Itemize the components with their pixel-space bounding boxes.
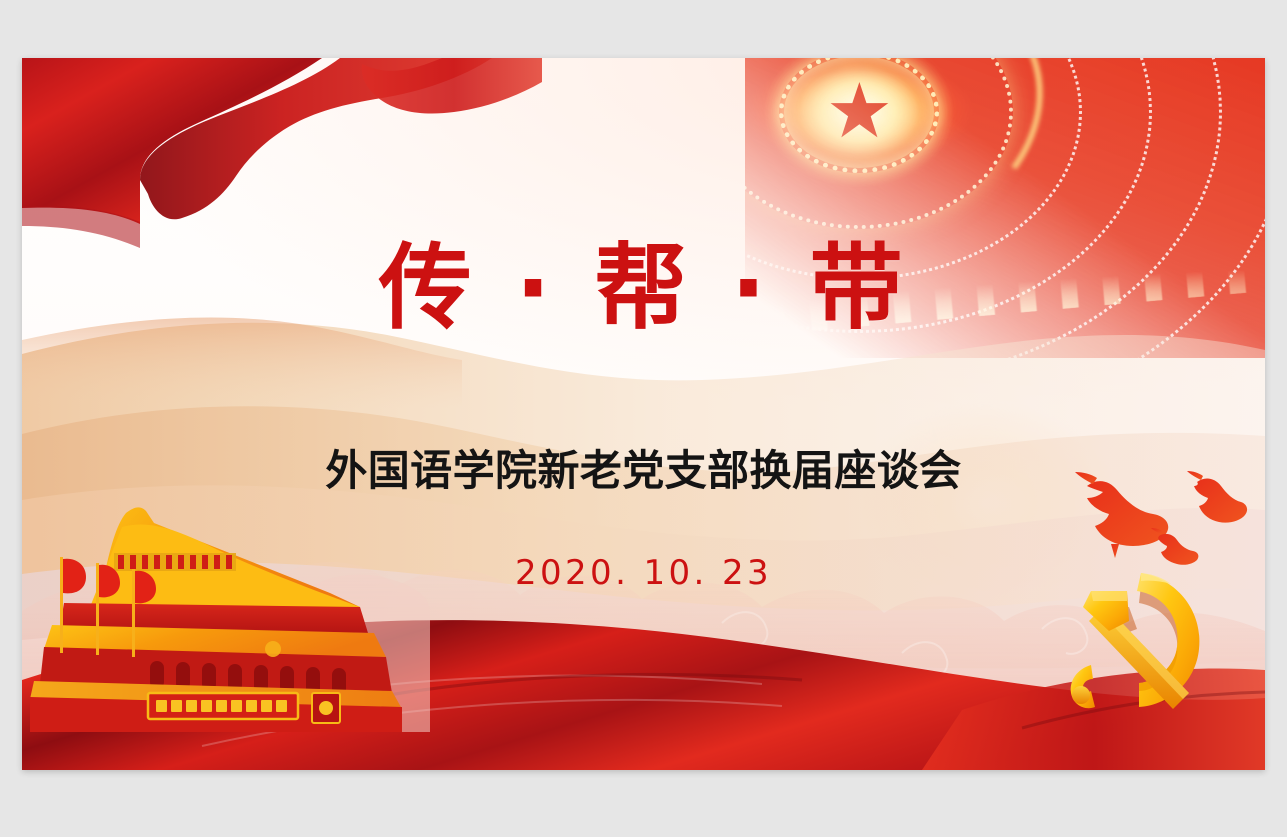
presentation-slide: 传 · 帮 · 带 外国语学院新老党支部换届座谈会 2020. 10. 23	[22, 58, 1265, 770]
event-date: 2020. 10. 23	[22, 556, 1265, 590]
event-subtitle: 外国语学院新老党支部换届座谈会	[22, 448, 1265, 494]
text-layer: 传 · 帮 · 带 外国语学院新老党支部换届座谈会 2020. 10. 23	[22, 58, 1265, 770]
slide-stage: 传 · 帮 · 带 外国语学院新老党支部换届座谈会 2020. 10. 23	[0, 0, 1287, 837]
page-title: 传 · 帮 · 带	[22, 242, 1265, 335]
